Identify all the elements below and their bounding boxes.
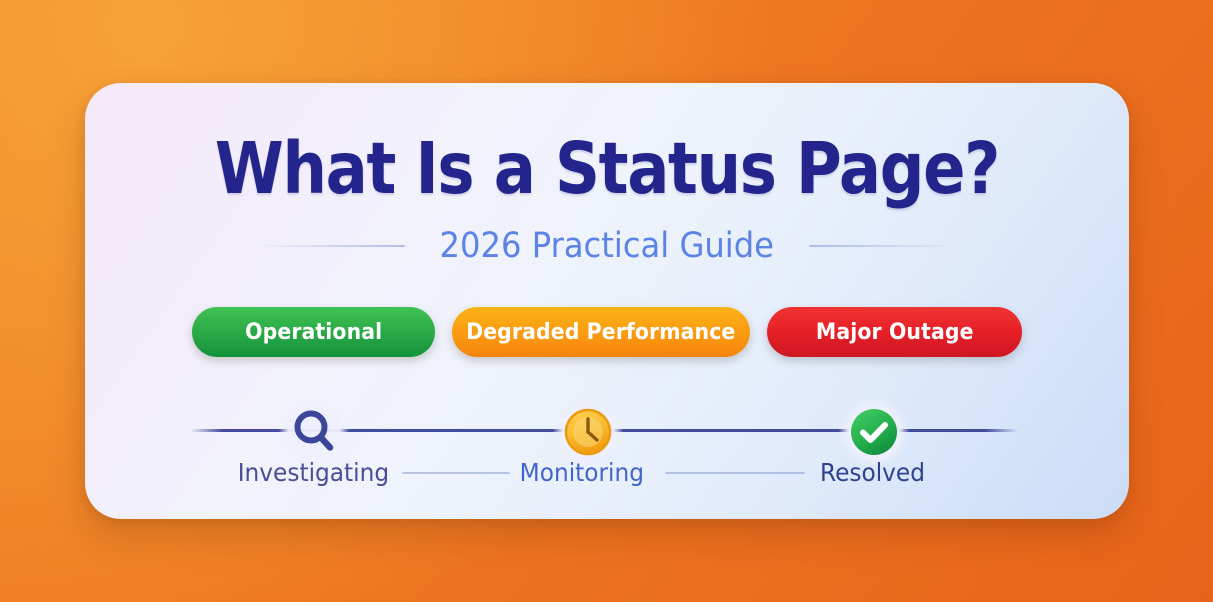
status-badge-degraded[interactable]: Degraded Performance bbox=[452, 307, 750, 357]
subtitle-row: 2026 Practical Guide bbox=[85, 226, 1129, 266]
page-title: What Is a Status Page? bbox=[148, 133, 1067, 204]
subtitle-rule-right bbox=[809, 245, 957, 247]
timeline-node-resolved[interactable] bbox=[846, 404, 902, 460]
content-card: What Is a Status Page? 2026 Practical Gu… bbox=[85, 83, 1129, 519]
status-badge-operational[interactable]: Operational bbox=[192, 307, 435, 357]
status-pill-group: Operational Degraded Performance Major O… bbox=[192, 307, 1022, 357]
timeline-node-investigating[interactable] bbox=[286, 404, 342, 460]
page-subtitle: 2026 Practical Guide bbox=[440, 226, 774, 266]
clock-icon bbox=[564, 408, 612, 456]
timeline-label-investigating: Investigating bbox=[238, 458, 389, 487]
incident-timeline: Investigating Monitoring Resolved bbox=[190, 398, 1018, 493]
timeline-label-rule-2 bbox=[665, 472, 805, 474]
poster-canvas: What Is a Status Page? 2026 Practical Gu… bbox=[0, 0, 1213, 602]
status-badge-major-outage[interactable]: Major Outage bbox=[767, 307, 1022, 357]
timeline-label-monitoring: Monitoring bbox=[520, 458, 644, 487]
status-badge-degraded-label: Degraded Performance bbox=[466, 320, 735, 345]
timeline-label-rule-1 bbox=[402, 472, 510, 474]
check-circle-icon bbox=[849, 407, 899, 457]
status-badge-operational-label: Operational bbox=[245, 320, 382, 345]
timeline-label-resolved: Resolved bbox=[820, 458, 925, 487]
timeline-node-monitoring[interactable] bbox=[560, 404, 616, 460]
magnifier-icon bbox=[288, 406, 340, 458]
subtitle-rule-left bbox=[257, 245, 405, 247]
status-badge-major-outage-label: Major Outage bbox=[816, 320, 974, 345]
